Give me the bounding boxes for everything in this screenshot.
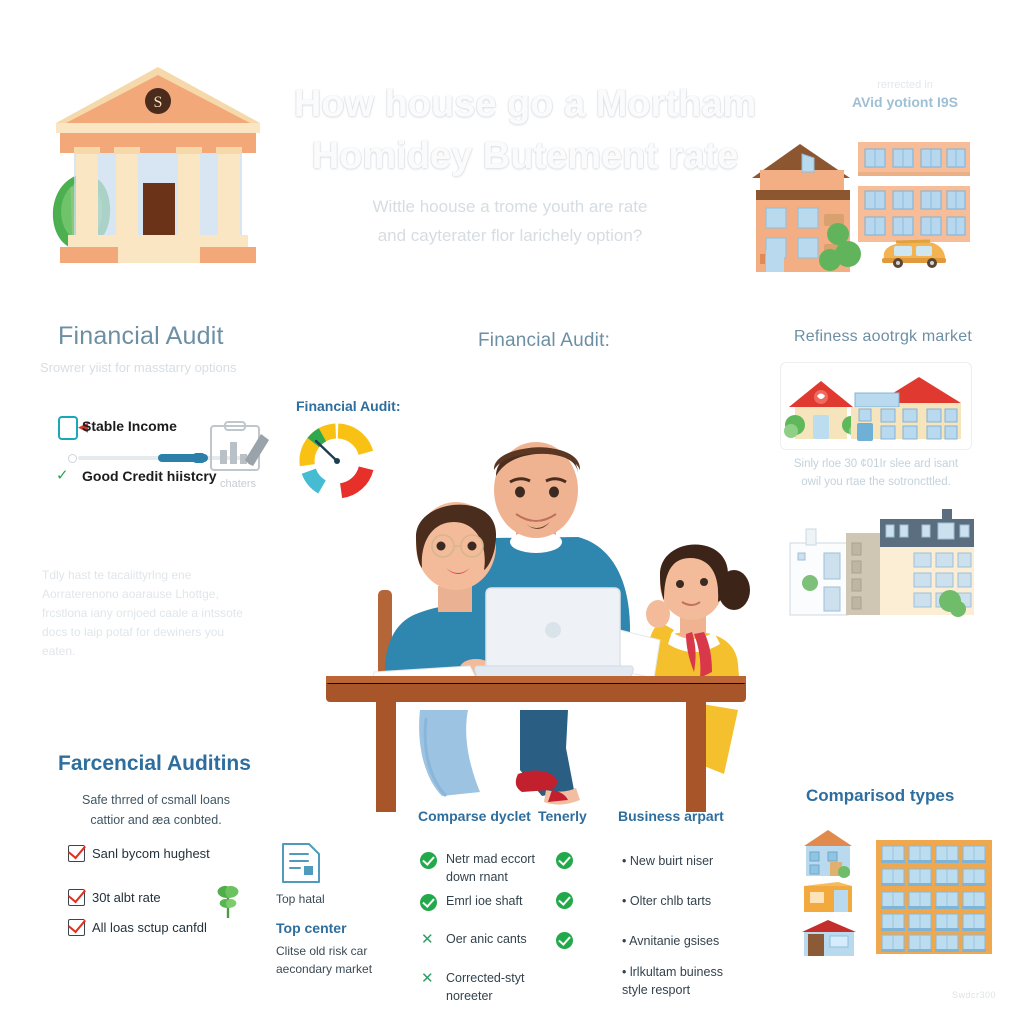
compare-col3-header: Business arpart xyxy=(618,808,724,824)
left-panel-paragraph: Tdly hast te tacaiittyrlng ene Aorratere… xyxy=(42,566,252,661)
note-small-text: rerrected in xyxy=(800,78,1010,93)
left-bottom-check-3: All loas sctup canfdl xyxy=(92,920,207,935)
checkbox-checked-icon[interactable] xyxy=(68,845,85,862)
checkbox-checked-icon[interactable] xyxy=(68,919,85,936)
check-icon: ✓ xyxy=(56,466,69,484)
left-bottom-check-2: 30t albt rate xyxy=(92,890,161,905)
check-circle-icon xyxy=(420,894,437,911)
left-panel-subheading: Srowrer yiist for masstarry options xyxy=(40,360,237,375)
left-bottom-subtext: Safe thrred of csmall loans cattior and … xyxy=(56,790,256,830)
right-panel-heading: Refiness aootrgk market xyxy=(794,328,972,346)
house-comparison-card xyxy=(780,362,972,450)
compare-col1-item-1: Netr mad eccort down rnant xyxy=(446,850,546,886)
page-title: How house go a Mortham Homidey Butement … xyxy=(265,78,785,182)
left-bottom-subtext-line-2: cattior and æa conbted. xyxy=(56,810,256,830)
compare-col1-item-4: Corrected-styt noreeter xyxy=(446,969,546,1005)
right-caption-line-1: Sinly rloe 30 ¢01Ir slee ard isant xyxy=(776,455,976,473)
left-bottom-check-1: Sanl bycom hughest xyxy=(92,846,210,861)
left-bottom-subtext-line-1: Safe thrred of csmall loans xyxy=(56,790,256,810)
compare-col3-item-1: • New buirt niser xyxy=(622,852,742,870)
family-at-laptop-illustration xyxy=(320,418,760,818)
document-icon xyxy=(278,840,324,886)
apartment-blocks-illustration xyxy=(790,505,975,630)
subtitle-line-1: Wittle hoouse a trome youth are rate xyxy=(300,192,720,221)
bank-building-illustration: S xyxy=(38,55,288,285)
compare-col1-header: Comparse dyclet xyxy=(418,808,531,824)
stable-income-checkbox-icon[interactable] xyxy=(58,416,78,440)
list-item-stable-income: Stable Income xyxy=(82,418,177,434)
compare-col3-item-3: • Avnitanie gsises xyxy=(622,932,742,950)
page-subtitle: Wittle hoouse a trome youth are rate and… xyxy=(300,192,720,250)
cross-icon: ✕ xyxy=(421,971,434,986)
infographic-page: S How house go xyxy=(0,0,1024,1024)
doc-column-heading: Top center xyxy=(276,920,347,936)
sprout-icon xyxy=(208,880,248,920)
check-circle-icon xyxy=(556,932,573,949)
compare-col3-item-2: • Olter chlb tarts xyxy=(622,892,742,910)
gauge-chart-label: Financial Audit: xyxy=(296,398,400,414)
top-right-note: rerrected in AVid yotiont I9S xyxy=(800,78,1010,112)
slider-min-dot xyxy=(68,454,77,463)
house-types-illustration xyxy=(798,828,868,958)
doc-column-paragraph: Clitse old risk car aecondary market xyxy=(276,942,376,978)
center-heading: Financial Audit: xyxy=(478,330,610,352)
compare-col3-item-4: • lrlkultam buiness style resport xyxy=(622,963,732,999)
slider-knob[interactable] xyxy=(193,453,205,463)
chart-icon-label: chaters xyxy=(205,478,271,490)
check-circle-icon xyxy=(556,852,573,869)
watermark: Swdcr300 xyxy=(952,990,996,1000)
list-item-good-credit: Good Credit hiistcry xyxy=(82,468,217,484)
check-circle-icon xyxy=(556,892,573,909)
apartment-block-illustration xyxy=(876,840,992,956)
apartment-facade-top xyxy=(858,142,970,178)
svg-text:S: S xyxy=(154,94,163,111)
cross-icon: ✕ xyxy=(421,932,434,947)
car-illustration xyxy=(878,236,950,270)
doc-column-caption: Top hatal xyxy=(276,892,325,906)
right-panel-caption: Sinly rloe 30 ¢01Ir slee ard isant owil … xyxy=(776,455,976,491)
left-panel-heading: Financial Audit xyxy=(58,322,224,351)
compare-col1-item-2: Emrl ioe shaft xyxy=(446,892,546,910)
compare-col1-item-3: Oer anic cants xyxy=(446,930,546,948)
bar-chart-clipboard-icon xyxy=(205,420,271,478)
check-circle-icon xyxy=(420,852,437,869)
title-line-2: Homidey Butement rate xyxy=(265,130,785,182)
note-main-text: AVid yotiont I9S xyxy=(800,93,1010,112)
townhouse-illustration xyxy=(742,138,862,278)
subtitle-line-2: and cayterater flor larichely option? xyxy=(300,221,720,250)
right-bottom-heading: Comparisod types xyxy=(806,786,954,806)
right-caption-line-2: owil you rtae the sotroncttled. xyxy=(776,473,976,491)
left-bottom-heading: Farcencial Auditins xyxy=(58,752,251,776)
compare-col2-header: Tenerly xyxy=(538,808,587,824)
title-line-1: How house go a Mortham xyxy=(265,78,785,130)
checkbox-checked-icon[interactable] xyxy=(68,889,85,906)
